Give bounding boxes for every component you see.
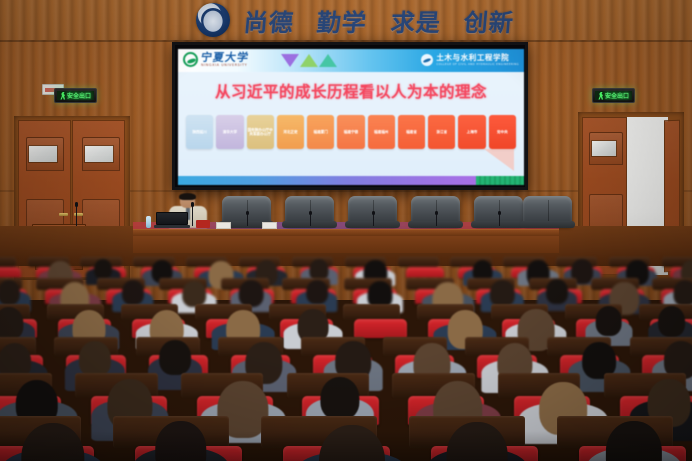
timeline-card-label: 陕西延川 (192, 130, 206, 134)
slide-left-logo-en: NINGXIA UNIVERSITY (201, 64, 249, 67)
seat-back (343, 304, 401, 320)
seat-back (398, 257, 439, 267)
timeline-card-label: 福建福州 (374, 130, 388, 134)
projection-screen: 宁夏大学 NINGXIA UNIVERSITY 土木与水利工程学院 COLLEG… (172, 42, 528, 190)
decorative-triangles (281, 54, 337, 67)
timeline-card-label: 清华大学 (223, 130, 237, 134)
motto-word-3: 求是 (389, 3, 442, 38)
timeline-card: 国务院办公厅中央军委办公厅 (247, 115, 274, 149)
wall-motto: 尚德 勤学 求是 创新 (244, 2, 514, 38)
name-card (216, 222, 231, 229)
auditorium-photo: 尚德 勤学 求是 创新 安全出口 安全出口 宁夏大学 NINGXIA UNIVE… (0, 0, 692, 461)
slide-left-logo-cn: 宁夏大学 (200, 52, 250, 63)
timeline-card: 浙江省 (428, 115, 455, 149)
desk-microphone (373, 214, 374, 226)
desk-microphone (247, 214, 248, 226)
red-desk-item (196, 220, 210, 228)
slide-footer-bar (178, 176, 524, 185)
slide-decoration-wedge (484, 149, 514, 171)
timeline-card: 河北正定 (277, 115, 304, 149)
timeline-card: 清华大学 (216, 115, 243, 149)
timeline-card-row: 陕西延川清华大学国务院办公厅中央军委办公厅河北正定福建厦门福建宁德福建福州福建省… (186, 115, 516, 149)
foreground-shadow (0, 431, 692, 461)
slide-title: 从习近平的成长历程看以人为本的理念 (178, 80, 524, 102)
presenter-hair (179, 193, 196, 200)
motto-word-4: 创新 (462, 3, 515, 38)
door-left2-panel-top (82, 137, 120, 171)
timeline-card-label: 福建厦门 (314, 130, 328, 134)
exit-sign-left: 安全出口 (54, 88, 97, 103)
laptop-screen (156, 212, 188, 225)
name-card (262, 222, 277, 229)
door-left-handle[interactable] (59, 213, 68, 216)
audience-member-head (121, 280, 143, 305)
timeline-card-label: 福建省 (406, 130, 417, 134)
desk-microphone (310, 214, 311, 226)
timeline-card: 福建宁德 (337, 115, 364, 149)
desk-microphone (499, 214, 500, 226)
lectern-mic-head (75, 202, 78, 207)
laptop-base (154, 225, 190, 228)
timeline-card-label: 国务院办公厅中央军委办公厅 (248, 128, 273, 137)
exit-sign-right-label: 安全出口 (605, 91, 629, 100)
university-emblem-icon (196, 3, 230, 37)
timeline-card-label: 党中央 (497, 130, 508, 134)
slide-content: 宁夏大学 NINGXIA UNIVERSITY 土木与水利工程学院 COLLEG… (178, 49, 524, 185)
lectern-mic-stalk (76, 206, 77, 228)
door-left-panel-top (26, 137, 64, 171)
running-man-icon (60, 92, 66, 100)
triangle-purple-icon (281, 54, 299, 67)
slide-right-logo-en: COLLEGE OF CIVIL AND HYDRAULIC ENGINEERI… (436, 63, 519, 66)
motto-word-2: 勤学 (316, 3, 369, 38)
head-table-chair (523, 196, 572, 226)
timeline-card-label: 上海市 (467, 130, 478, 134)
desk-microphone (436, 214, 437, 226)
audience-member-head (595, 306, 622, 336)
slide-right-logo-cn: 土木与水利工程学院 (436, 54, 519, 62)
timeline-card: 陕西延川 (186, 115, 213, 149)
exit-sign-right: 安全出口 (592, 88, 635, 103)
audience-area (0, 250, 692, 461)
timeline-card: 福建厦门 (307, 115, 334, 149)
exit-sign-left-label: 安全出口 (67, 91, 91, 100)
timeline-card-label: 浙江省 (436, 130, 447, 134)
presenter-mic-head (191, 202, 194, 207)
timeline-card-label: 河北正定 (283, 130, 297, 134)
presenter-mic-stalk (192, 206, 193, 226)
timeline-card: 福建福州 (368, 115, 395, 149)
seat-back (0, 257, 16, 267)
motto-word-1: 尚德 (242, 3, 295, 38)
audience-member-head (658, 306, 686, 337)
audience-member-head (306, 280, 328, 304)
college-logo-icon (421, 54, 433, 66)
triangle-green-icon (300, 54, 318, 67)
university-logo-icon (183, 52, 198, 67)
laptop (154, 212, 190, 228)
timeline-card: 党中央 (489, 115, 516, 149)
slide-left-logo: 宁夏大学 NINGXIA UNIVERSITY (183, 52, 249, 67)
running-man-icon-right (598, 92, 604, 100)
triangle-teal-icon (319, 54, 337, 67)
slide-header-bar: 宁夏大学 NINGXIA UNIVERSITY 土木与水利工程学院 COLLEG… (178, 49, 524, 72)
audience-member-head (546, 279, 568, 304)
door-right-panel-top (589, 132, 623, 165)
timeline-card-label: 福建宁德 (344, 130, 358, 134)
timeline-card: 上海市 (458, 115, 485, 149)
slide-right-logo: 土木与水利工程学院 COLLEGE OF CIVIL AND HYDRAULIC… (421, 54, 519, 66)
water-bottle (146, 216, 151, 228)
timeline-card: 福建省 (398, 115, 425, 149)
